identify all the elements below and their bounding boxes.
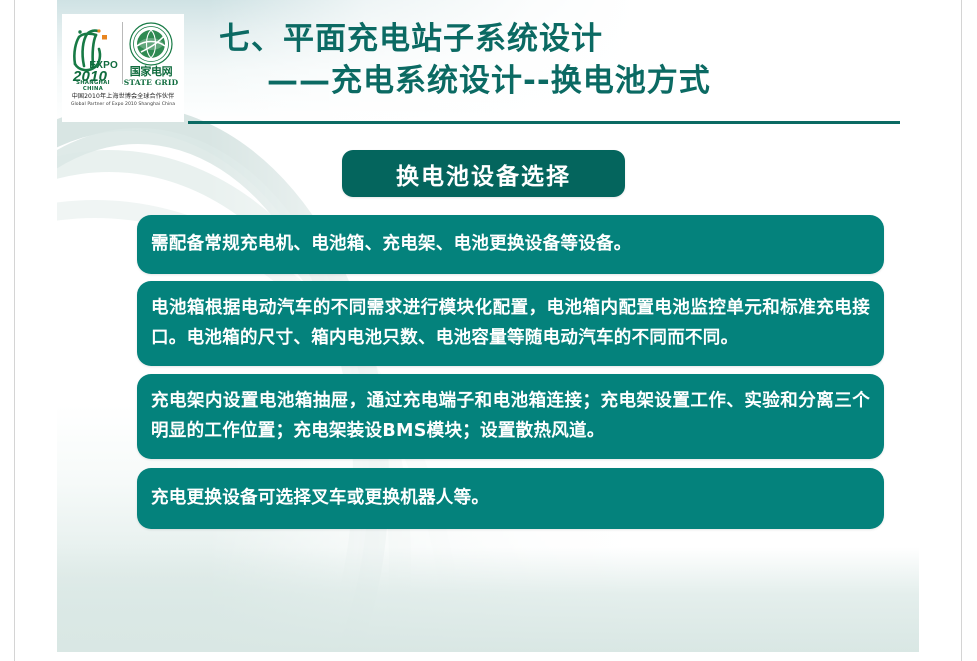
- section-heading-pill: 换电池设备选择: [342, 150, 625, 197]
- content-box: 电池箱根据电动汽车的不同需求进行模块化配置，电池箱内配置电池监控单元和标准充电接…: [137, 281, 884, 366]
- content-box-text: 电池箱根据电动汽车的不同需求进行模块化配置，电池箱内配置电池监控单元和标准充电接…: [151, 293, 870, 353]
- sponsor-logo-panel: EXPO 2010 SHANGHAI CHINA: [62, 14, 184, 122]
- slide-canvas: EXPO 2010 SHANGHAI CHINA: [57, 0, 919, 652]
- sponsor-tagline-en: Global Partner of Expo 2010 Shanghai Chi…: [62, 101, 184, 108]
- state-grid-logo-icon: 国家电网 STATE GRID: [121, 22, 181, 92]
- sponsor-tagline-cn: 中国2010年上海世博会全球合作伙伴: [62, 93, 184, 101]
- title-line-secondary: ——充电系统设计--换电池方式: [197, 60, 897, 102]
- expo-city: SHANGHAI CHINA: [65, 80, 121, 92]
- section-heading-label: 换电池设备选择: [396, 157, 571, 191]
- title-line-primary: 七、平面充电站子系统设计: [197, 18, 897, 60]
- state-grid-name-cn: 国家电网: [121, 66, 181, 78]
- content-box-text: 充电架内设置电池箱抽屉，通过充电端子和电池箱连接；充电架设置工作、实验和分离三个…: [151, 386, 870, 446]
- content-box: 充电更换设备可选择叉车或更换机器人等。: [137, 468, 884, 529]
- logo-row: EXPO 2010 SHANGHAI CHINA: [62, 14, 184, 92]
- slide-title: 七、平面充电站子系统设计 ——充电系统设计--换电池方式: [197, 18, 897, 102]
- content-box: 充电架内设置电池箱抽屉，通过充电端子和电池箱连接；充电架设置工作、实验和分离三个…: [137, 374, 884, 459]
- content-box-text: 需配备常规充电机、电池箱、充电架、电池更换设备等设备。: [151, 229, 870, 259]
- title-underline-rule: [188, 121, 900, 124]
- presentation-page: EXPO 2010 SHANGHAI CHINA: [0, 0, 977, 661]
- content-box: 需配备常规充电机、电池箱、充电架、电池更换设备等设备。: [137, 215, 884, 274]
- content-box-text: 充电更换设备可选择叉车或更换机器人等。: [151, 483, 870, 513]
- state-grid-name-en: STATE GRID: [121, 78, 181, 87]
- content-box-list: 需配备常规充电机、电池箱、充电架、电池更换设备等设备。 电池箱根据电动汽车的不同…: [137, 215, 884, 536]
- expo-2010-logo-icon: EXPO 2010 SHANGHAI CHINA: [65, 22, 121, 92]
